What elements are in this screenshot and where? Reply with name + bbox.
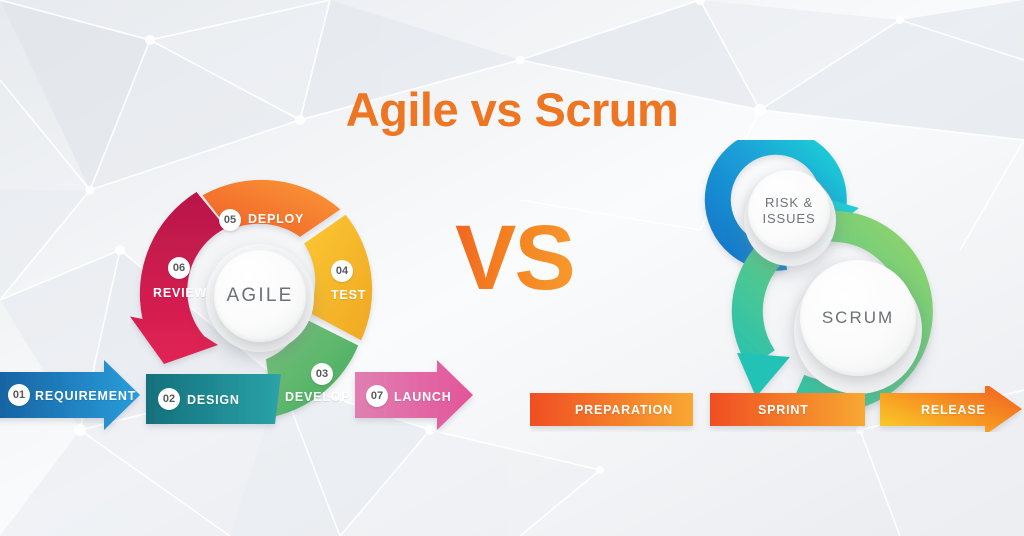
agile-step-design-number: 02 (158, 388, 180, 410)
agile-segment-test-number: 04 (331, 260, 353, 282)
agile-center-disc[interactable]: AGILE (214, 250, 306, 342)
versus-label: VS (455, 212, 574, 304)
agile-step-design-label: DESIGN (187, 393, 240, 407)
infographic-canvas: Agile vs Scrum VS (0, 0, 1024, 536)
agile-step-requirement-label: REQUIREMENT (35, 389, 136, 403)
agile-segment-test-label: TEST (331, 288, 366, 302)
agile-step-launch-number: 07 (366, 385, 388, 407)
scrum-step-sprint-label: SPRINT (758, 403, 809, 417)
scrum-risk-label-line2: ISSUES (762, 211, 815, 227)
scrum-center-disc[interactable]: SCRUM (800, 260, 916, 376)
scrum-center-label: SCRUM (822, 308, 894, 328)
agile-segment-review-label: REVIEW (153, 286, 207, 300)
scrum-step-release-label: RELEASE (921, 403, 986, 417)
scrum-step-preparation-label: PREPARATION (575, 403, 673, 417)
agile-center-label: AGILE (227, 285, 294, 307)
agile-flow-bar: 01 REQUIREMENT 02 DESIGN 07 LAUNCH (0, 358, 480, 436)
agile-segment-review-number: 06 (168, 257, 190, 279)
scrum-risk-label-line1: RISK & (765, 195, 813, 211)
agile-segment-deploy-label: DEPLOY (248, 212, 304, 226)
agile-step-launch-label: LAUNCH (394, 390, 452, 404)
scrum-flow-bar: PREPARATION SPRINT RELEASE (530, 386, 1024, 432)
page-title: Agile vs Scrum (0, 82, 1024, 137)
agile-step-requirement-number: 01 (8, 384, 30, 406)
scrum-risk-disc[interactable]: RISK & ISSUES (748, 170, 830, 252)
agile-segment-deploy-number: 05 (219, 209, 241, 231)
